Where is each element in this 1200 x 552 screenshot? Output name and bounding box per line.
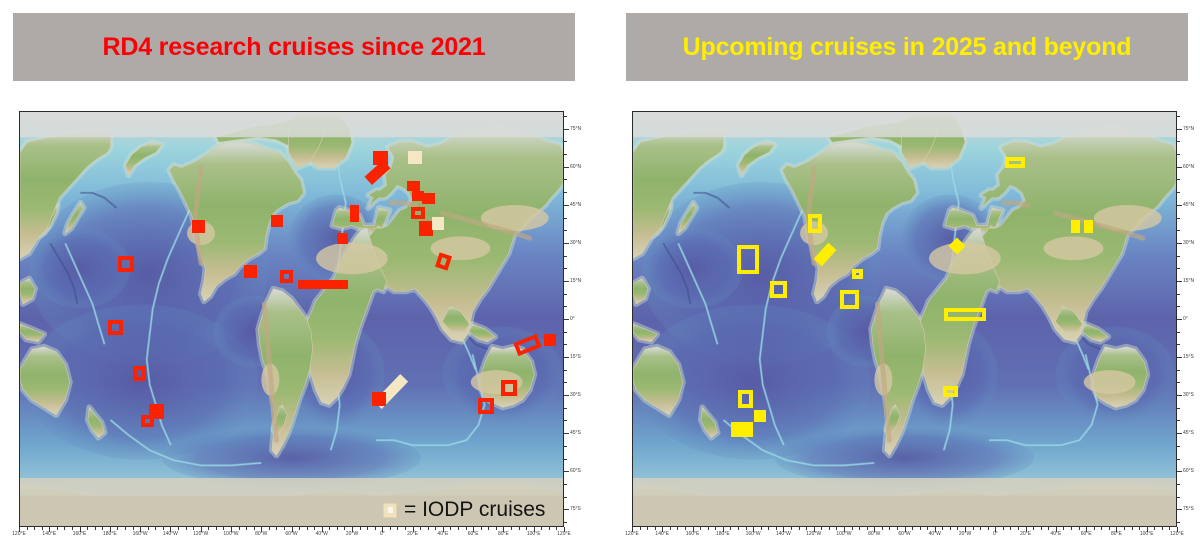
x-tick (927, 527, 928, 530)
y-tick-major (564, 395, 569, 396)
cruise-marker-ne-pacific-upcoming[interactable] (808, 214, 822, 233)
x-tick (435, 527, 436, 530)
y-tick (564, 294, 567, 295)
x-tick (307, 527, 308, 530)
x-tick (829, 527, 830, 530)
x-tick-label: 40°W (929, 531, 941, 537)
x-tick (216, 527, 217, 530)
y-tick (564, 268, 567, 269)
map-y-axis-right: 75°N60°N45°N30°N15°N0°15°S30°S45°S60°S75… (1177, 111, 1200, 527)
cruise-marker-north-sea[interactable] (407, 181, 420, 191)
x-tick-label: 60°E (468, 531, 479, 537)
y-tick (564, 256, 567, 257)
y-tick (564, 522, 567, 523)
x-tick-label: 60°W (285, 531, 297, 537)
cruise-marker-norwegian-sea-upcoming[interactable] (1005, 157, 1025, 168)
x-tick-label: 0° (380, 531, 385, 537)
x-tick (27, 527, 28, 530)
iodp-square-icon (383, 503, 397, 518)
y-tick (564, 154, 567, 155)
x-tick-label: 100°E (1140, 531, 1154, 537)
y-tick (564, 408, 567, 409)
x-tick (806, 527, 807, 530)
page-title-left: RD4 research cruises since 2021 (103, 33, 486, 62)
y-tick-label: 75°N (570, 126, 581, 132)
y-tick (564, 497, 567, 498)
cruise-marker-caribbean[interactable] (280, 270, 293, 283)
y-tick (564, 306, 567, 307)
y-tick-major (564, 509, 569, 510)
x-tick (344, 527, 345, 530)
x-tick (1094, 527, 1095, 530)
y-tick-major (1177, 205, 1182, 206)
y-tick-label: 15°S (570, 354, 581, 360)
x-tick (42, 527, 43, 530)
x-tick (1139, 527, 1140, 530)
x-tick (375, 527, 376, 530)
y-tick (564, 218, 567, 219)
x-tick (133, 527, 134, 530)
cruise-marker-south-atlantic-upcoming[interactable] (943, 386, 958, 397)
x-tick (920, 527, 921, 530)
x-tick-label: 80°W (868, 531, 880, 537)
map-container-left: 120°E140°E160°E180°E160°W140°W120°W100°W… (11, 107, 577, 531)
y-tick-major (564, 357, 569, 358)
x-tick (163, 527, 164, 530)
map-container-right: 120°E140°E160°E180°E160°W140°W120°W100°W… (624, 107, 1190, 531)
cruise-marker-nw-atlantic[interactable] (271, 215, 283, 227)
x-tick (488, 527, 489, 530)
x-tick (942, 527, 943, 530)
x-tick (397, 527, 398, 530)
x-tick (246, 527, 247, 530)
y-tick-major (1177, 471, 1182, 472)
y-tick-major (1177, 509, 1182, 510)
x-tick-label: 100°W (223, 531, 238, 537)
cruise-marker-equatorial-atlantic-upcoming[interactable] (944, 308, 986, 321)
x-tick (836, 527, 837, 530)
y-tick-major (1177, 281, 1182, 282)
cruise-marker-central-pacific-hawaii[interactable] (118, 256, 134, 272)
y-tick-label: 30°N (570, 240, 581, 246)
x-tick-label: 20°E (407, 531, 418, 537)
world-map-right (633, 112, 1176, 526)
x-tick (882, 527, 883, 530)
x-tick (223, 527, 224, 530)
x-tick (458, 527, 459, 530)
y-tick-major (1177, 319, 1182, 320)
map-frame-left[interactable] (19, 111, 564, 527)
x-tick (87, 527, 88, 530)
x-tick (64, 527, 65, 530)
x-tick (1124, 527, 1125, 530)
cruise-marker-western-mediterranean[interactable] (411, 207, 425, 219)
y-tick (1177, 497, 1180, 498)
y-tick-label: 0° (570, 316, 575, 322)
x-tick-label: 120°W (806, 531, 821, 537)
x-tick (208, 527, 209, 530)
cruise-marker-equatorial-pacific[interactable] (108, 320, 123, 335)
y-tick-label: 75°N (1183, 126, 1194, 132)
x-tick (526, 527, 527, 530)
cruise-marker-iodp-eastern-mediterranean[interactable] (432, 217, 444, 230)
y-tick-major (564, 281, 569, 282)
x-tick (859, 527, 860, 530)
x-tick (738, 527, 739, 530)
x-tick-label: 180°E (716, 531, 730, 537)
cruise-marker-mid-atlantic-ridge-north[interactable] (350, 205, 359, 222)
x-tick (1063, 527, 1064, 530)
x-tick-label: 120°W (193, 531, 208, 537)
x-tick-label: 100°E (527, 531, 541, 537)
map-y-axis-left: 75°N60°N45°N30°N15°N0°15°S30°S45°S60°S75… (564, 111, 588, 527)
y-tick-major (564, 319, 569, 320)
x-tick (337, 527, 338, 530)
y-tick-major (1177, 167, 1182, 168)
x-tick (420, 527, 421, 530)
y-tick (1177, 218, 1180, 219)
x-tick-label: 100°W (836, 531, 851, 537)
page-title-right: Upcoming cruises in 2025 and beyond (683, 33, 1132, 62)
x-tick (1162, 527, 1163, 530)
x-tick-label: 20°E (1020, 531, 1031, 537)
map-x-axis-right: 120°E140°E160°E180°E160°W140°W120°W100°W… (632, 527, 1177, 541)
y-tick (1177, 459, 1180, 460)
title-bar-right: Upcoming cruises in 2025 and beyond (626, 13, 1188, 81)
x-tick (715, 527, 716, 530)
x-tick (647, 527, 648, 530)
y-tick-label: 30°N (1183, 240, 1194, 246)
cruise-marker-south-pacific-tahiti[interactable] (133, 366, 146, 381)
y-tick (1177, 332, 1180, 333)
x-tick (730, 527, 731, 530)
cruise-marker-gulf-caribbean-upcoming[interactable] (852, 269, 863, 279)
x-tick-label: 120°E (12, 531, 26, 537)
x-tick (852, 527, 853, 530)
cruise-marker-hawaii-upcoming[interactable] (737, 245, 759, 274)
x-tick (655, 527, 656, 530)
x-tick (776, 527, 777, 530)
y-tick (564, 344, 567, 345)
y-tick-label: 60°N (570, 164, 581, 170)
x-tick-label: 120°E (557, 531, 571, 537)
cruise-marker-mediterranean-upcoming-1[interactable] (1071, 220, 1080, 233)
x-tick (186, 527, 187, 530)
y-tick-label: 75°S (1183, 506, 1194, 512)
x-tick (511, 527, 512, 530)
y-tick (1177, 408, 1180, 409)
x-tick (980, 527, 981, 530)
y-tick-major (1177, 129, 1182, 130)
y-tick-label: 30°S (570, 392, 581, 398)
y-tick (1177, 294, 1180, 295)
y-tick (1177, 522, 1180, 523)
x-tick (867, 527, 868, 530)
cruise-marker-equatorial-atlantic-transect[interactable] (298, 280, 348, 289)
cruise-marker-baltic[interactable] (422, 193, 435, 204)
x-tick (1041, 527, 1042, 530)
y-tick-major (564, 167, 569, 168)
x-tick (1132, 527, 1133, 530)
panel-upcoming-cruises: Upcoming cruises in 2025 and beyond (600, 0, 1200, 552)
y-tick (564, 420, 567, 421)
cruise-marker-eastern-pacific-upcoming[interactable] (840, 290, 859, 309)
y-tick-label: 30°S (1183, 392, 1194, 398)
y-tick-label: 45°N (1183, 202, 1194, 208)
y-tick (1177, 179, 1180, 180)
x-tick (912, 527, 913, 530)
cruise-marker-chile-margin-upcoming[interactable] (731, 422, 753, 437)
map-frame-right[interactable] (632, 111, 1177, 527)
x-tick (1169, 527, 1170, 530)
x-tick-label: 40°E (437, 531, 448, 537)
x-tick-label: 0° (993, 531, 998, 537)
x-tick (360, 527, 361, 530)
y-tick-major (564, 243, 569, 244)
x-tick (276, 527, 277, 530)
x-tick (193, 527, 194, 530)
x-tick (466, 527, 467, 530)
x-tick-label: 40°E (1050, 531, 1061, 537)
x-tick (957, 527, 958, 530)
y-tick (1177, 192, 1180, 193)
y-tick-label: 15°N (570, 278, 581, 284)
x-tick (556, 527, 557, 530)
x-tick (125, 527, 126, 530)
y-tick (564, 116, 567, 117)
x-tick (405, 527, 406, 530)
x-tick (450, 527, 451, 530)
cruise-marker-southwest-indian-ocean[interactable] (478, 398, 494, 414)
x-tick (254, 527, 255, 530)
cruise-marker-central-mediterranean[interactable] (419, 221, 433, 236)
x-tick (821, 527, 822, 530)
y-tick-label: 60°N (1183, 164, 1194, 170)
cruise-marker-south-pacific-upcoming[interactable] (738, 390, 753, 408)
cruise-marker-iodp-norwegian-margin[interactable] (408, 151, 422, 164)
x-tick-label: 80°E (1111, 531, 1122, 537)
x-tick (549, 527, 550, 530)
x-tick (1048, 527, 1049, 530)
y-tick-label: 45°S (1183, 430, 1194, 436)
legend-label: = IODP cruises (404, 498, 545, 522)
x-tick-label: 20°W (346, 531, 358, 537)
x-tick-label: 160°W (746, 531, 761, 537)
y-tick (564, 459, 567, 460)
x-tick (761, 527, 762, 530)
y-tick (564, 230, 567, 231)
y-tick-major (1177, 395, 1182, 396)
x-tick (708, 527, 709, 530)
y-tick-major (1177, 433, 1182, 434)
x-tick (541, 527, 542, 530)
x-tick (670, 527, 671, 530)
x-tick (57, 527, 58, 530)
y-tick-major (564, 471, 569, 472)
y-tick-major (564, 129, 569, 130)
x-tick (791, 527, 792, 530)
y-tick (564, 179, 567, 180)
x-tick-label: 140°W (776, 531, 791, 537)
x-tick (768, 527, 769, 530)
y-tick-label: 0° (1183, 316, 1188, 322)
x-tick (284, 527, 285, 530)
y-tick-major (1177, 357, 1182, 358)
x-tick (746, 527, 747, 530)
y-tick (1177, 484, 1180, 485)
y-tick (564, 446, 567, 447)
x-tick-label: 80°W (255, 531, 267, 537)
cruise-marker-gulf-of-mexico[interactable] (244, 265, 257, 278)
x-tick (640, 527, 641, 530)
x-tick (799, 527, 800, 530)
x-tick (1071, 527, 1072, 530)
x-tick-label: 180°E (103, 531, 117, 537)
x-tick (269, 527, 270, 530)
y-tick-label: 75°S (570, 506, 581, 512)
x-tick-label: 20°W (959, 531, 971, 537)
y-tick-major (564, 433, 569, 434)
x-tick (481, 527, 482, 530)
cruise-marker-ne-pacific-california[interactable] (192, 220, 205, 233)
x-tick-label: 60°E (1081, 531, 1092, 537)
x-tick (889, 527, 890, 530)
y-tick (564, 141, 567, 142)
x-tick-label: 80°E (498, 531, 509, 537)
x-tick (95, 527, 96, 530)
x-tick (329, 527, 330, 530)
panel-past-cruises: RD4 research cruises since 2021 (0, 0, 600, 552)
y-tick-label: 45°N (570, 202, 581, 208)
x-tick (1018, 527, 1019, 530)
y-tick-label: 15°S (1183, 354, 1194, 360)
cruise-marker-south-pacific-2[interactable] (141, 415, 154, 427)
x-tick (897, 527, 898, 530)
x-tick (314, 527, 315, 530)
y-tick-label: 45°S (570, 430, 581, 436)
x-tick (988, 527, 989, 530)
x-tick (117, 527, 118, 530)
x-tick-label: 140°W (163, 531, 178, 537)
x-tick-label: 40°W (316, 531, 328, 537)
x-tick (34, 527, 35, 530)
x-tick (367, 527, 368, 530)
x-tick-label: 120°E (1170, 531, 1184, 537)
cruise-marker-south-pacific-filled[interactable] (754, 410, 766, 422)
y-tick (1177, 154, 1180, 155)
x-tick (950, 527, 951, 530)
x-tick (973, 527, 974, 530)
y-tick-label: 60°S (1183, 468, 1194, 474)
cruise-marker-indonesia[interactable] (544, 334, 556, 346)
x-tick (178, 527, 179, 530)
y-tick-major (1177, 243, 1182, 244)
x-tick (1109, 527, 1110, 530)
x-tick (102, 527, 103, 530)
x-tick (700, 527, 701, 530)
cruise-marker-south-atlantic-walvis[interactable] (372, 392, 386, 406)
y-tick (1177, 344, 1180, 345)
x-tick (299, 527, 300, 530)
x-tick (428, 527, 429, 530)
x-tick-label: 160°E (73, 531, 87, 537)
y-tick (1177, 382, 1180, 383)
x-tick-label: 120°E (625, 531, 639, 537)
x-tick (1101, 527, 1102, 530)
y-tick (564, 382, 567, 383)
y-tick (564, 332, 567, 333)
y-tick-major (564, 205, 569, 206)
cruise-marker-central-indian-ocean[interactable] (501, 380, 517, 396)
world-map-left (20, 112, 563, 526)
y-tick (1177, 420, 1180, 421)
x-tick (155, 527, 156, 530)
cruise-marker-mediterranean-upcoming-2[interactable] (1084, 220, 1093, 233)
x-tick-label: 140°E (42, 531, 56, 537)
x-tick (496, 527, 497, 530)
y-tick (1177, 116, 1180, 117)
cruise-marker-azores[interactable] (337, 233, 348, 244)
y-tick (1177, 230, 1180, 231)
x-tick (685, 527, 686, 530)
y-tick (1177, 446, 1180, 447)
x-tick-label: 160°E (686, 531, 700, 537)
y-tick-label: 15°N (1183, 278, 1194, 284)
x-tick (72, 527, 73, 530)
cruise-marker-central-pacific-upcoming[interactable] (770, 281, 787, 298)
x-tick (239, 527, 240, 530)
x-tick-label: 60°W (898, 531, 910, 537)
x-tick (1154, 527, 1155, 530)
y-tick (1177, 268, 1180, 269)
x-tick (677, 527, 678, 530)
x-tick (1033, 527, 1034, 530)
y-tick (564, 192, 567, 193)
y-tick (564, 370, 567, 371)
map-x-axis-left: 120°E140°E160°E180°E160°W140°W120°W100°W… (19, 527, 564, 541)
title-bar-left: RD4 research cruises since 2021 (13, 13, 575, 81)
y-tick (1177, 306, 1180, 307)
y-tick (1177, 256, 1180, 257)
x-tick (148, 527, 149, 530)
x-tick (390, 527, 391, 530)
x-tick (519, 527, 520, 530)
y-tick (564, 484, 567, 485)
x-tick (1010, 527, 1011, 530)
x-tick (1079, 527, 1080, 530)
x-tick-label: 160°W (133, 531, 148, 537)
y-tick (1177, 141, 1180, 142)
x-tick-label: 140°E (655, 531, 669, 537)
y-tick (1177, 370, 1180, 371)
y-tick-label: 60°S (570, 468, 581, 474)
x-tick (1003, 527, 1004, 530)
legend-iodp: = IODP cruises (383, 498, 545, 522)
